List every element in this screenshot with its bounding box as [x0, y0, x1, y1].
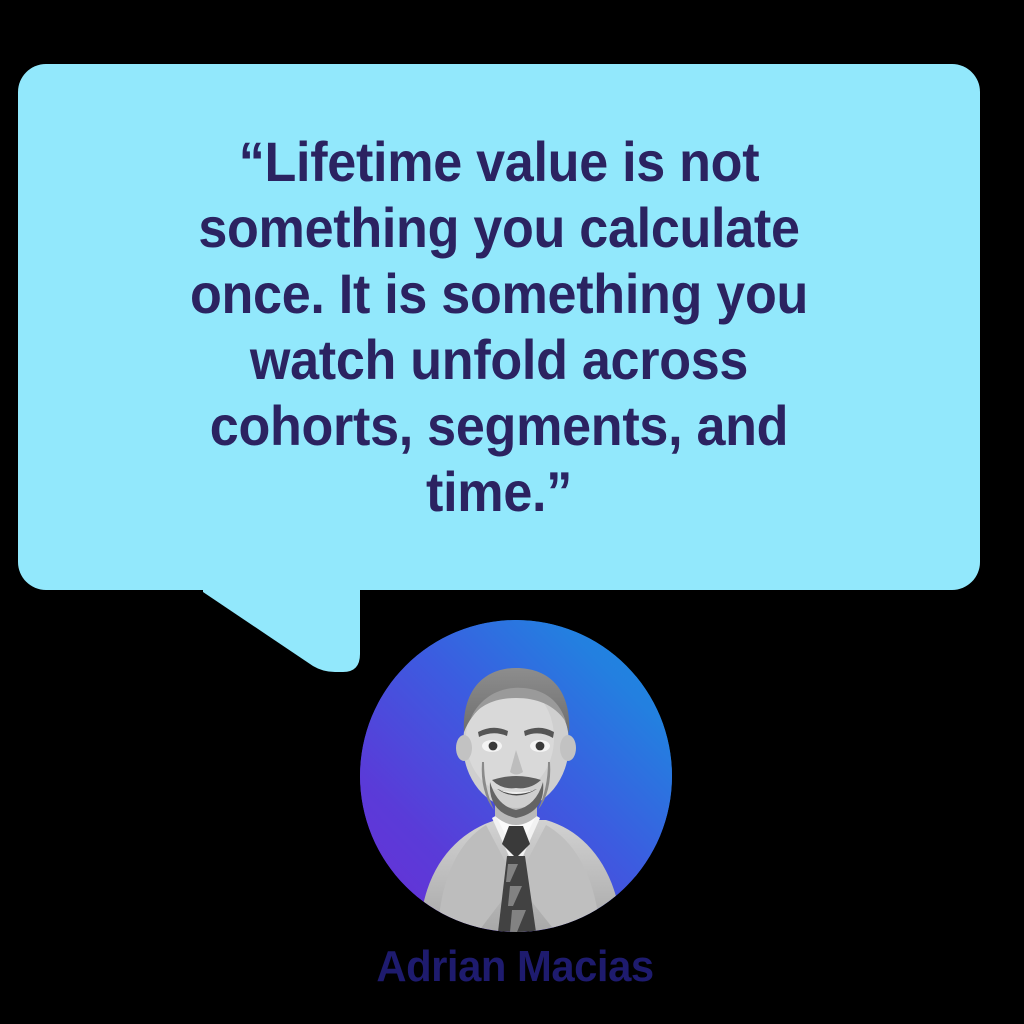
- author-name: Adrian Macias: [29, 944, 1002, 990]
- avatar: [360, 620, 672, 932]
- testimonial-card: “Lifetime value is not something you cal…: [0, 0, 1024, 1024]
- quote-text: “Lifetime value is not something you cal…: [146, 129, 853, 525]
- speech-bubble-tail: [195, 586, 360, 678]
- quote-speech-bubble: “Lifetime value is not something you cal…: [18, 64, 980, 590]
